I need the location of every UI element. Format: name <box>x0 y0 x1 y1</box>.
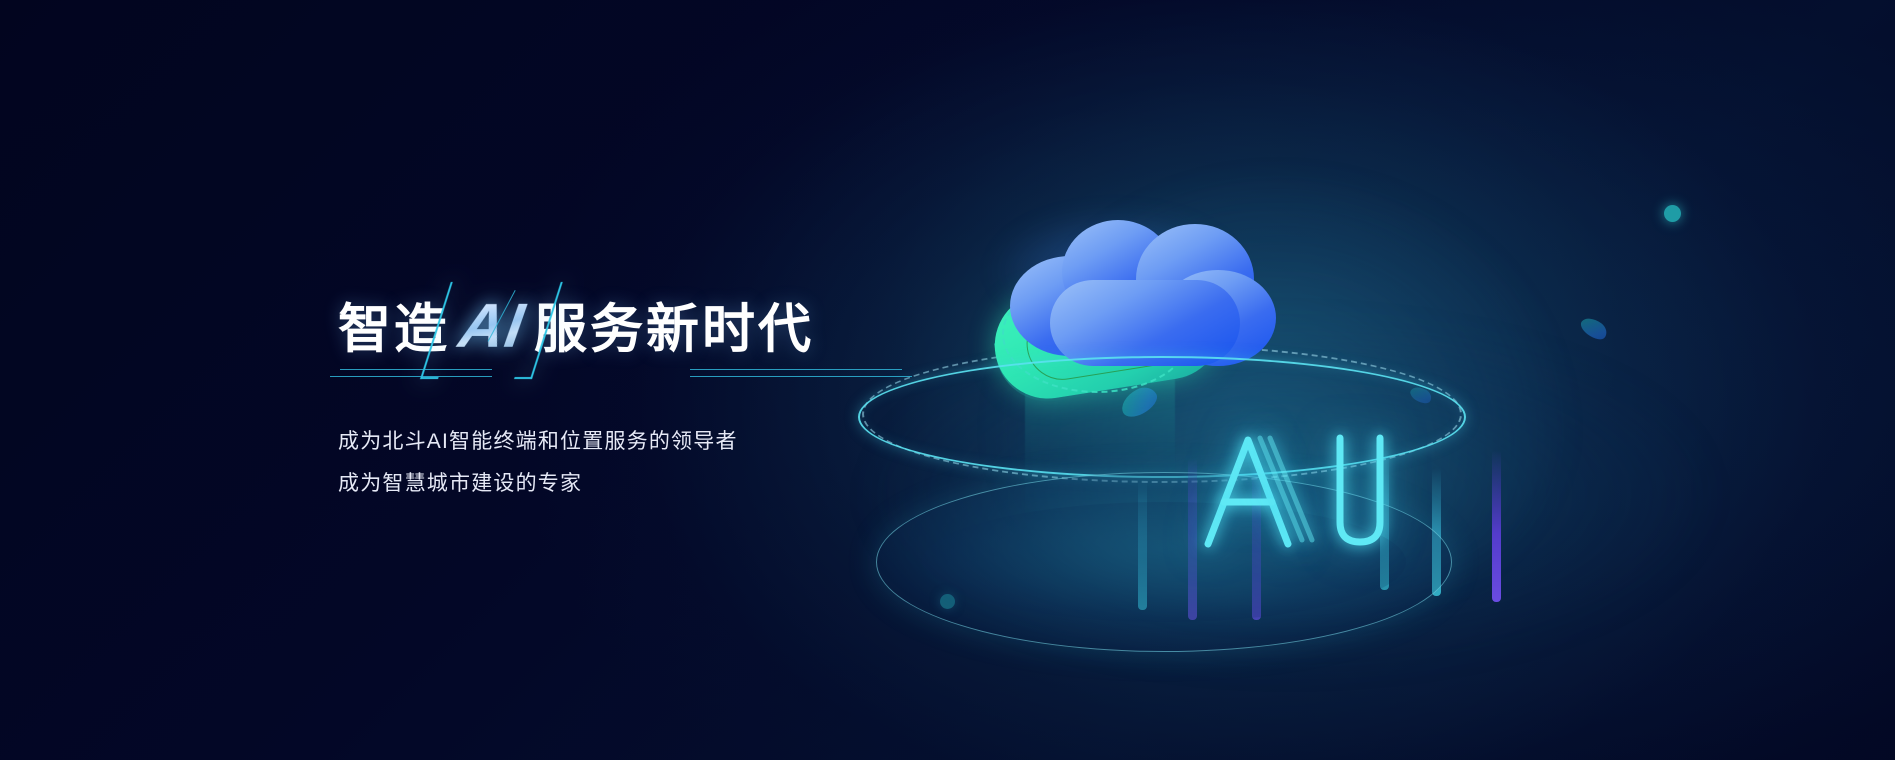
headline-underline-decoration <box>338 367 898 383</box>
underline-left-1 <box>340 369 492 370</box>
hero-banner: 智造AI服务新时代 成为北斗AI智能终端和位置服务的领导者 成为智慧城市建设的专… <box>0 0 1895 760</box>
underline-right-1 <box>690 369 902 370</box>
headline-suffix: 服务新时代 <box>534 300 814 359</box>
light-bar-purple-3 <box>1492 450 1501 602</box>
neon-ai-svg <box>1190 420 1410 550</box>
neon-letter-a-extrude-2 <box>1270 438 1312 540</box>
neon-ai-logo <box>1190 420 1410 550</box>
underline-left-2 <box>330 376 492 377</box>
underline-right-2 <box>690 376 912 377</box>
subtitle-line-1: 成为北斗AI智能终端和位置服务的领导者 <box>338 421 898 463</box>
subtitle-line-2: 成为智慧城市建设的专家 <box>338 463 898 505</box>
page-title: 智造AI服务新时代 <box>338 290 898 363</box>
hero-illustration <box>980 150 1600 650</box>
hero-copy: 智造AI服务新时代 成为北斗AI智能终端和位置服务的领导者 成为智慧城市建设的专… <box>338 290 898 505</box>
headline-ai-mark: AI <box>444 290 540 363</box>
cloud-shape <box>1010 218 1280 368</box>
particle-dot-right <box>1664 205 1681 222</box>
floating-leaf-upper-right <box>1578 313 1611 343</box>
neon-letter-i <box>1340 438 1380 542</box>
hero-subtitle: 成为北斗AI智能终端和位置服务的领导者 成为智慧城市建设的专家 <box>338 421 898 505</box>
cloud-base <box>1050 280 1240 366</box>
